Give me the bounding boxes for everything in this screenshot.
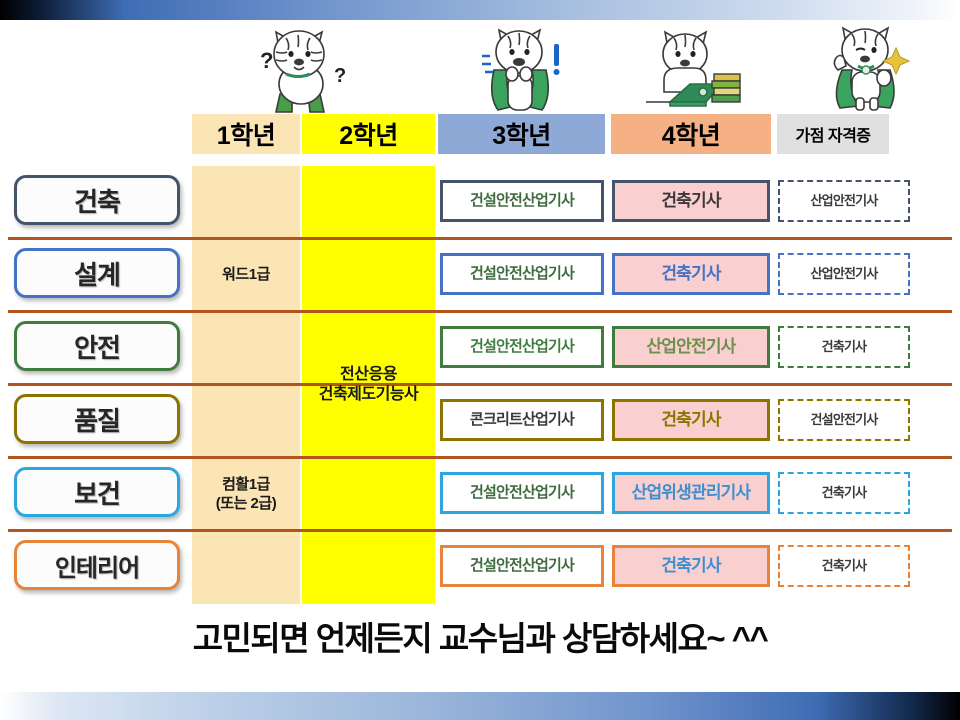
year4-certificate-cell[interactable]: 건축기사 [612,545,770,587]
year1-cell-word1: 워드1급 [192,166,300,385]
table-row: 품질콘크리트산업기사건축기사건설안전기사 [0,385,960,458]
table-body: 건축건설안전산업기사건축기사산업안전기사설계건설안전산업기사건축기사산업안전기사… [0,166,960,604]
footer-caption: 고민되면 언제든지 교수님과 상담하세요~ ^^ [0,612,960,660]
bonus-certificate-cell[interactable]: 건설안전기사 [778,399,910,441]
track-label-5[interactable]: 보건 [14,467,180,517]
top-gradient-bar [0,0,960,20]
year4-certificate-cell[interactable]: 건축기사 [612,399,770,441]
track-label-3[interactable]: 안전 [14,321,180,371]
header-year3: 3학년 [438,114,605,154]
year4-certificate-cell[interactable]: 건축기사 [612,180,770,222]
table-row: 건축건설안전산업기사건축기사산업안전기사 [0,166,960,239]
svg-text:?: ? [334,65,346,87]
curriculum-table: 1학년 2학년 3학년 4학년 가점 자격증 건축건설안전산업기사건축기사산업안… [0,114,960,604]
table-row: 설계건설안전산업기사건축기사산업안전기사 [0,239,960,312]
table-header-row: 1학년 2학년 3학년 4학년 가점 자격증 [0,114,960,154]
bottom-gradient-bar [0,692,960,720]
year4-certificate-cell[interactable]: 산업위생관리기사 [612,472,770,514]
track-label-1[interactable]: 건축 [14,175,180,225]
table-row: 인테리어건설안전산업기사건축기사건축기사 [0,531,960,604]
year3-certificate-cell[interactable]: 건설안전산업기사 [440,326,604,368]
svg-text:?: ? [260,48,273,73]
header-year1: 1학년 [192,114,300,154]
bonus-certificate-cell[interactable]: 건축기사 [778,545,910,587]
slide-root: ? ? [0,0,960,720]
track-label-2[interactable]: 설계 [14,248,180,298]
mascot-row: ? ? [0,22,960,114]
header-bonus-certificate: 가점 자격증 [777,114,889,154]
track-label-6[interactable]: 인테리어 [14,540,180,590]
bonus-certificate-cell[interactable]: 산업안전기사 [778,180,910,222]
tiger-studying-mascot [640,22,750,114]
header-year2: 2학년 [302,114,435,154]
year3-certificate-cell[interactable]: 건설안전산업기사 [440,545,604,587]
year3-certificate-cell[interactable]: 건설안전산업기사 [440,180,604,222]
tiger-cheering-mascot [466,22,576,114]
year2-cell-cad: 전산응용건축제도기능사 [302,166,435,604]
year3-certificate-cell[interactable]: 콘크리트산업기사 [440,399,604,441]
table-row: 안전건설안전산업기사산업안전기사건축기사 [0,312,960,385]
bonus-certificate-cell[interactable]: 산업안전기사 [778,253,910,295]
tiger-thinking-mascot: ? ? [246,22,356,114]
table-row: 보건건설안전산업기사산업위생관리기사건축기사 [0,458,960,531]
header-year4: 4학년 [611,114,771,154]
bonus-certificate-cell[interactable]: 건축기사 [778,326,910,368]
track-label-4[interactable]: 품질 [14,394,180,444]
year4-certificate-cell[interactable]: 건축기사 [612,253,770,295]
year3-certificate-cell[interactable]: 건설안전산업기사 [440,253,604,295]
year1-cell-computer: 컴활1급(또는 2급) [192,385,300,604]
bonus-certificate-cell[interactable]: 건축기사 [778,472,910,514]
tiger-thumbsup-mascot [812,22,922,114]
year3-certificate-cell[interactable]: 건설안전산업기사 [440,472,604,514]
year4-certificate-cell[interactable]: 산업안전기사 [612,326,770,368]
